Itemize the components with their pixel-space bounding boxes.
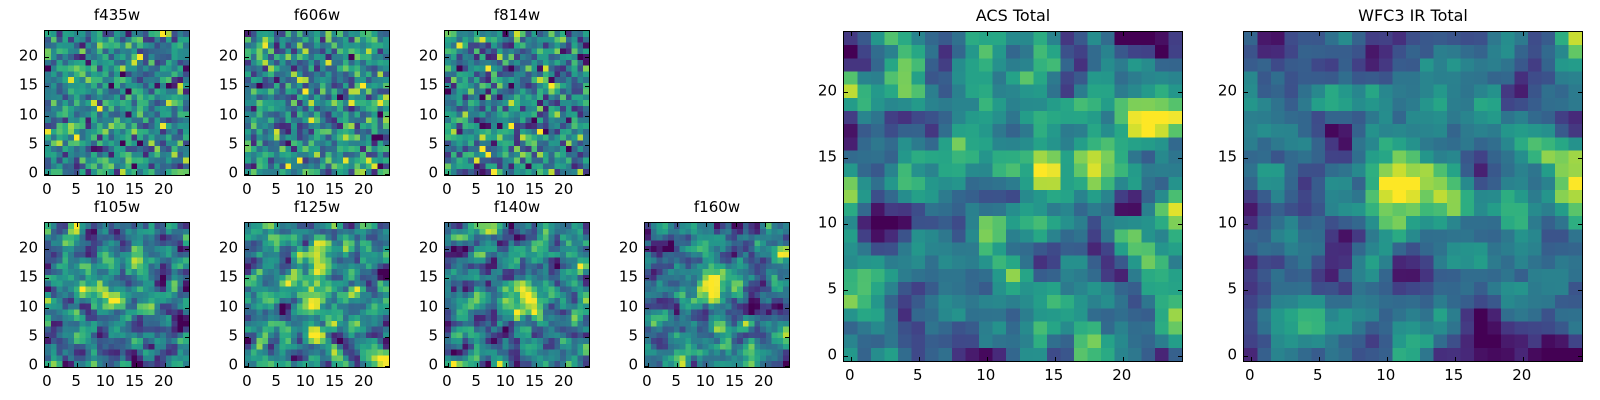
x-tick-top [1455,32,1456,36]
x-tick-label: 20 [754,374,773,389]
y-tick-label: 15 [219,270,238,285]
x-tick-label: 10 [696,374,715,389]
y-tick [1244,290,1248,291]
y-tick-right [585,86,589,87]
x-tick-label: 5 [71,374,81,389]
y-tick-right [585,57,589,58]
x-tick [77,363,78,367]
x-tick [106,171,107,175]
panel-title: f105w [44,200,190,215]
x-tick-label: 15 [125,182,144,197]
y-tick-label: 0 [28,358,38,373]
y-tick [245,86,249,87]
figure-canvas: f435w0510152005101520f606w05101520051015… [0,0,1600,400]
y-tick-right [185,249,189,250]
y-tick-label: 5 [428,136,438,151]
y-tick-label: 5 [428,328,438,343]
x-tick [165,171,166,175]
y-tick [645,249,649,250]
x-tick-top [477,223,478,227]
y-tick-label: 5 [1227,282,1237,297]
y-tick [645,337,649,338]
y-tick-right [785,278,789,279]
y-tick-right [385,57,389,58]
x-tick-top [77,31,78,35]
y-tick-label: 0 [827,348,837,363]
x-tick-top [336,31,337,35]
y-tick-right [185,308,189,309]
x-tick-top [306,223,307,227]
x-tick [1523,357,1524,361]
x-tick-label: 5 [71,182,81,197]
y-tick-label: 20 [1218,83,1237,98]
x-tick-label: 0 [442,374,452,389]
x-tick-label: 20 [1112,368,1131,383]
panel-f606w: f606w0510152005101520 [244,30,390,176]
x-tick [919,357,920,361]
y-tick-right [785,366,789,367]
y-tick [45,278,49,279]
y-tick-label: 0 [228,166,238,181]
x-tick-label: 10 [96,182,115,197]
x-tick [736,363,737,367]
x-tick-label: 5 [1313,368,1323,383]
heatmap-axes [843,31,1183,362]
heatmap-axes [444,30,590,176]
x-tick-top [306,31,307,35]
y-tick-label: 20 [219,49,238,64]
x-tick [1055,357,1056,361]
y-tick-label: 0 [428,358,438,373]
x-tick [136,363,137,367]
panel-f814w: f814w0510152005101520 [444,30,590,176]
x-tick [336,171,337,175]
y-tick-right [385,278,389,279]
y-tick-label: 10 [19,299,38,314]
y-tick-label: 15 [619,270,638,285]
y-tick-label: 0 [428,166,438,181]
y-tick [844,290,848,291]
y-tick-right [185,278,189,279]
x-tick [336,363,337,367]
x-tick-top [48,31,49,35]
y-tick [445,145,449,146]
heatmap-axes [44,30,190,176]
x-tick [106,363,107,367]
y-tick [445,308,449,309]
x-tick [165,363,166,367]
x-tick-top [987,32,988,36]
x-tick [306,363,307,367]
x-tick-label: 0 [642,374,652,389]
y-tick-right [385,116,389,117]
x-tick-top [448,31,449,35]
x-tick-top [1523,32,1524,36]
panel-title: f435w [44,8,190,23]
y-tick-right [185,145,189,146]
x-tick [536,171,537,175]
y-tick [245,57,249,58]
y-tick-right [185,86,189,87]
x-tick-top [336,223,337,227]
y-tick-right [1578,158,1582,159]
panel-title: f814w [444,8,590,23]
panel-acs-total: ACS Total0510152005101520 [843,31,1183,362]
y-tick-right [1178,158,1182,159]
x-tick-label: 5 [671,374,681,389]
x-tick-top [1123,32,1124,36]
y-tick-label: 20 [19,241,38,256]
x-tick-top [919,32,920,36]
y-tick [844,224,848,225]
y-tick [245,249,249,250]
x-tick-top [248,223,249,227]
y-tick [245,145,249,146]
x-tick [365,171,366,175]
y-tick [245,308,249,309]
x-tick [1455,357,1456,361]
y-tick-label: 0 [628,358,638,373]
y-tick-right [1178,356,1182,357]
x-tick-label: 15 [525,374,544,389]
y-tick [844,92,848,93]
y-tick-label: 15 [818,149,837,164]
panel-title: f160w [644,200,790,215]
heatmap-image [445,223,589,367]
x-tick-top [706,223,707,227]
y-tick [245,174,249,175]
x-tick [136,171,137,175]
y-tick-right [185,366,189,367]
y-tick-label: 20 [419,49,438,64]
y-tick [1244,356,1248,357]
x-tick-label: 20 [1512,368,1531,383]
x-tick [987,357,988,361]
x-tick-label: 15 [325,182,344,197]
x-tick-top [277,31,278,35]
x-tick-top [1387,32,1388,36]
y-tick [445,249,449,250]
x-tick [565,363,566,367]
x-tick-label: 15 [1444,368,1463,383]
y-tick-label: 5 [628,328,638,343]
y-tick [645,308,649,309]
y-tick-label: 15 [19,78,38,93]
y-tick-right [585,145,589,146]
y-tick-label: 10 [419,107,438,122]
y-tick-right [185,174,189,175]
y-tick-label: 15 [19,270,38,285]
y-tick [45,366,49,367]
x-tick-top [448,223,449,227]
x-tick-top [506,31,507,35]
y-tick-right [385,145,389,146]
y-tick-label: 5 [28,136,38,151]
heatmap-axes [1243,31,1583,362]
x-tick-label: 0 [242,374,252,389]
y-tick-label: 10 [219,299,238,314]
y-tick [45,249,49,250]
heatmap-axes [644,222,790,368]
y-tick [445,116,449,117]
x-tick-label: 0 [1245,368,1255,383]
y-tick-label: 10 [219,107,238,122]
y-tick-right [1578,290,1582,291]
y-tick [645,278,649,279]
x-tick-top [565,31,566,35]
x-tick-top [1319,32,1320,36]
x-tick-top [365,223,366,227]
y-tick-right [585,278,589,279]
y-tick-right [585,337,589,338]
heatmap-image [445,31,589,175]
x-tick-top [165,31,166,35]
y-tick [844,356,848,357]
x-tick-label: 15 [525,182,544,197]
x-tick-top [136,31,137,35]
y-tick-right [785,337,789,338]
x-tick [77,171,78,175]
x-tick [1251,357,1252,361]
panel-title: f140w [444,200,590,215]
x-tick-top [736,223,737,227]
x-tick-top [536,223,537,227]
x-tick-label: 0 [845,368,855,383]
y-tick [1244,224,1248,225]
x-tick-label: 5 [471,374,481,389]
x-tick-label: 10 [296,374,315,389]
y-tick-right [385,308,389,309]
x-tick [277,171,278,175]
y-tick-label: 10 [818,215,837,230]
x-tick-label: 10 [496,182,515,197]
heatmap-image [245,31,389,175]
heatmap-image [1244,32,1582,361]
panel-f140w: f140w0510152005101520 [444,222,590,368]
heatmap-image [844,32,1182,361]
y-tick [45,116,49,117]
y-tick-label: 5 [228,136,238,151]
x-tick [477,171,478,175]
y-tick [445,86,449,87]
y-tick [245,337,249,338]
y-tick-right [1578,356,1582,357]
y-tick [1244,92,1248,93]
y-tick-right [585,308,589,309]
panel-f435w: f435w0510152005101520 [44,30,190,176]
y-tick-right [185,116,189,117]
x-tick [565,171,566,175]
x-tick [1387,357,1388,361]
x-tick-top [536,31,537,35]
y-tick-label: 10 [619,299,638,314]
x-tick-top [648,223,649,227]
y-tick-right [185,57,189,58]
y-tick-label: 0 [1227,348,1237,363]
x-tick [306,171,307,175]
y-tick-label: 5 [228,328,238,343]
y-tick-label: 20 [818,83,837,98]
x-tick-top [77,223,78,227]
y-tick-right [1178,92,1182,93]
y-tick [45,86,49,87]
heatmap-axes [44,222,190,368]
x-tick [851,357,852,361]
y-tick-label: 15 [419,78,438,93]
heatmap-image [45,223,189,367]
y-tick-right [585,174,589,175]
x-tick-label: 20 [554,374,573,389]
y-tick [844,158,848,159]
x-tick-label: 5 [471,182,481,197]
y-tick-label: 15 [219,78,238,93]
x-tick [706,363,707,367]
heatmap-axes [244,222,390,368]
x-tick-label: 20 [154,374,173,389]
panel-title: f125w [244,200,390,215]
heatmap-image [45,31,189,175]
x-tick-label: 5 [271,374,281,389]
y-tick-right [785,308,789,309]
x-tick-top [851,32,852,36]
y-tick-label: 20 [419,241,438,256]
y-tick [445,278,449,279]
x-tick-top [365,31,366,35]
y-tick-right [385,337,389,338]
y-tick-right [785,249,789,250]
y-tick-label: 15 [1218,149,1237,164]
x-tick-top [248,31,249,35]
y-tick [45,145,49,146]
x-tick [1319,357,1320,361]
y-tick-label: 10 [19,107,38,122]
x-tick-top [106,31,107,35]
y-tick-label: 20 [619,241,638,256]
y-tick-label: 10 [1218,215,1237,230]
x-tick-top [506,223,507,227]
x-tick-top [106,223,107,227]
heatmap-axes [444,222,590,368]
x-tick-top [1055,32,1056,36]
y-tick [45,174,49,175]
x-tick-label: 10 [96,374,115,389]
y-tick [45,57,49,58]
x-tick-label: 5 [271,182,281,197]
y-tick-right [1178,290,1182,291]
x-tick-top [477,31,478,35]
x-tick-label: 10 [296,182,315,197]
y-tick [45,337,49,338]
heatmap-axes [244,30,390,176]
heatmap-image [245,223,389,367]
x-tick-top [48,223,49,227]
y-tick [445,174,449,175]
x-tick-label: 0 [42,182,52,197]
x-tick [506,171,507,175]
panel-title: WFC3 IR Total [1243,8,1583,24]
y-tick-right [1578,224,1582,225]
x-tick-label: 0 [242,182,252,197]
x-tick-top [1251,32,1252,36]
x-tick [765,363,766,367]
x-tick-label: 15 [125,374,144,389]
x-tick-label: 20 [154,182,173,197]
x-tick [677,363,678,367]
heatmap-image [645,223,789,367]
y-tick-right [385,174,389,175]
y-tick-right [385,86,389,87]
x-tick [365,363,366,367]
y-tick-right [1178,224,1182,225]
x-tick-top [765,223,766,227]
x-tick-label: 20 [354,182,373,197]
y-tick [445,57,449,58]
x-tick-label: 5 [913,368,923,383]
y-tick [1244,158,1248,159]
x-tick-label: 10 [976,368,995,383]
y-tick-label: 0 [228,358,238,373]
y-tick [245,278,249,279]
y-tick-label: 5 [28,328,38,343]
x-tick-label: 20 [354,374,373,389]
panel-f160w: f160w0510152005101520 [644,222,790,368]
y-tick-label: 10 [419,299,438,314]
x-tick-label: 10 [1376,368,1395,383]
y-tick-label: 20 [219,241,238,256]
x-tick-label: 15 [325,374,344,389]
x-tick-top [677,223,678,227]
panel-title: f606w [244,8,390,23]
x-tick [1123,357,1124,361]
y-tick-label: 15 [419,270,438,285]
x-tick-top [165,223,166,227]
x-tick-label: 0 [442,182,452,197]
y-tick-right [1578,92,1582,93]
y-tick [445,366,449,367]
x-tick [506,363,507,367]
panel-wfc3-ir-total: WFC3 IR Total0510152005101520 [1243,31,1583,362]
x-tick [477,363,478,367]
y-tick [245,366,249,367]
y-tick [245,116,249,117]
y-tick-right [585,249,589,250]
x-tick-label: 10 [496,374,515,389]
y-tick-right [385,249,389,250]
x-tick-top [136,223,137,227]
x-tick-top [277,223,278,227]
x-tick [277,363,278,367]
y-tick [45,308,49,309]
y-tick-label: 0 [28,166,38,181]
x-tick-label: 0 [42,374,52,389]
x-tick-top [565,223,566,227]
y-tick-label: 5 [827,282,837,297]
y-tick-right [585,366,589,367]
panel-f105w: f105w0510152005101520 [44,222,190,368]
panel-f125w: f125w0510152005101520 [244,222,390,368]
y-tick [445,337,449,338]
x-tick-label: 20 [554,182,573,197]
x-tick-label: 15 [1044,368,1063,383]
x-tick-label: 15 [725,374,744,389]
panel-title: ACS Total [843,8,1183,24]
y-tick-right [185,337,189,338]
y-tick [645,366,649,367]
y-tick-label: 20 [19,49,38,64]
y-tick-right [385,366,389,367]
y-tick-right [585,116,589,117]
x-tick [536,363,537,367]
